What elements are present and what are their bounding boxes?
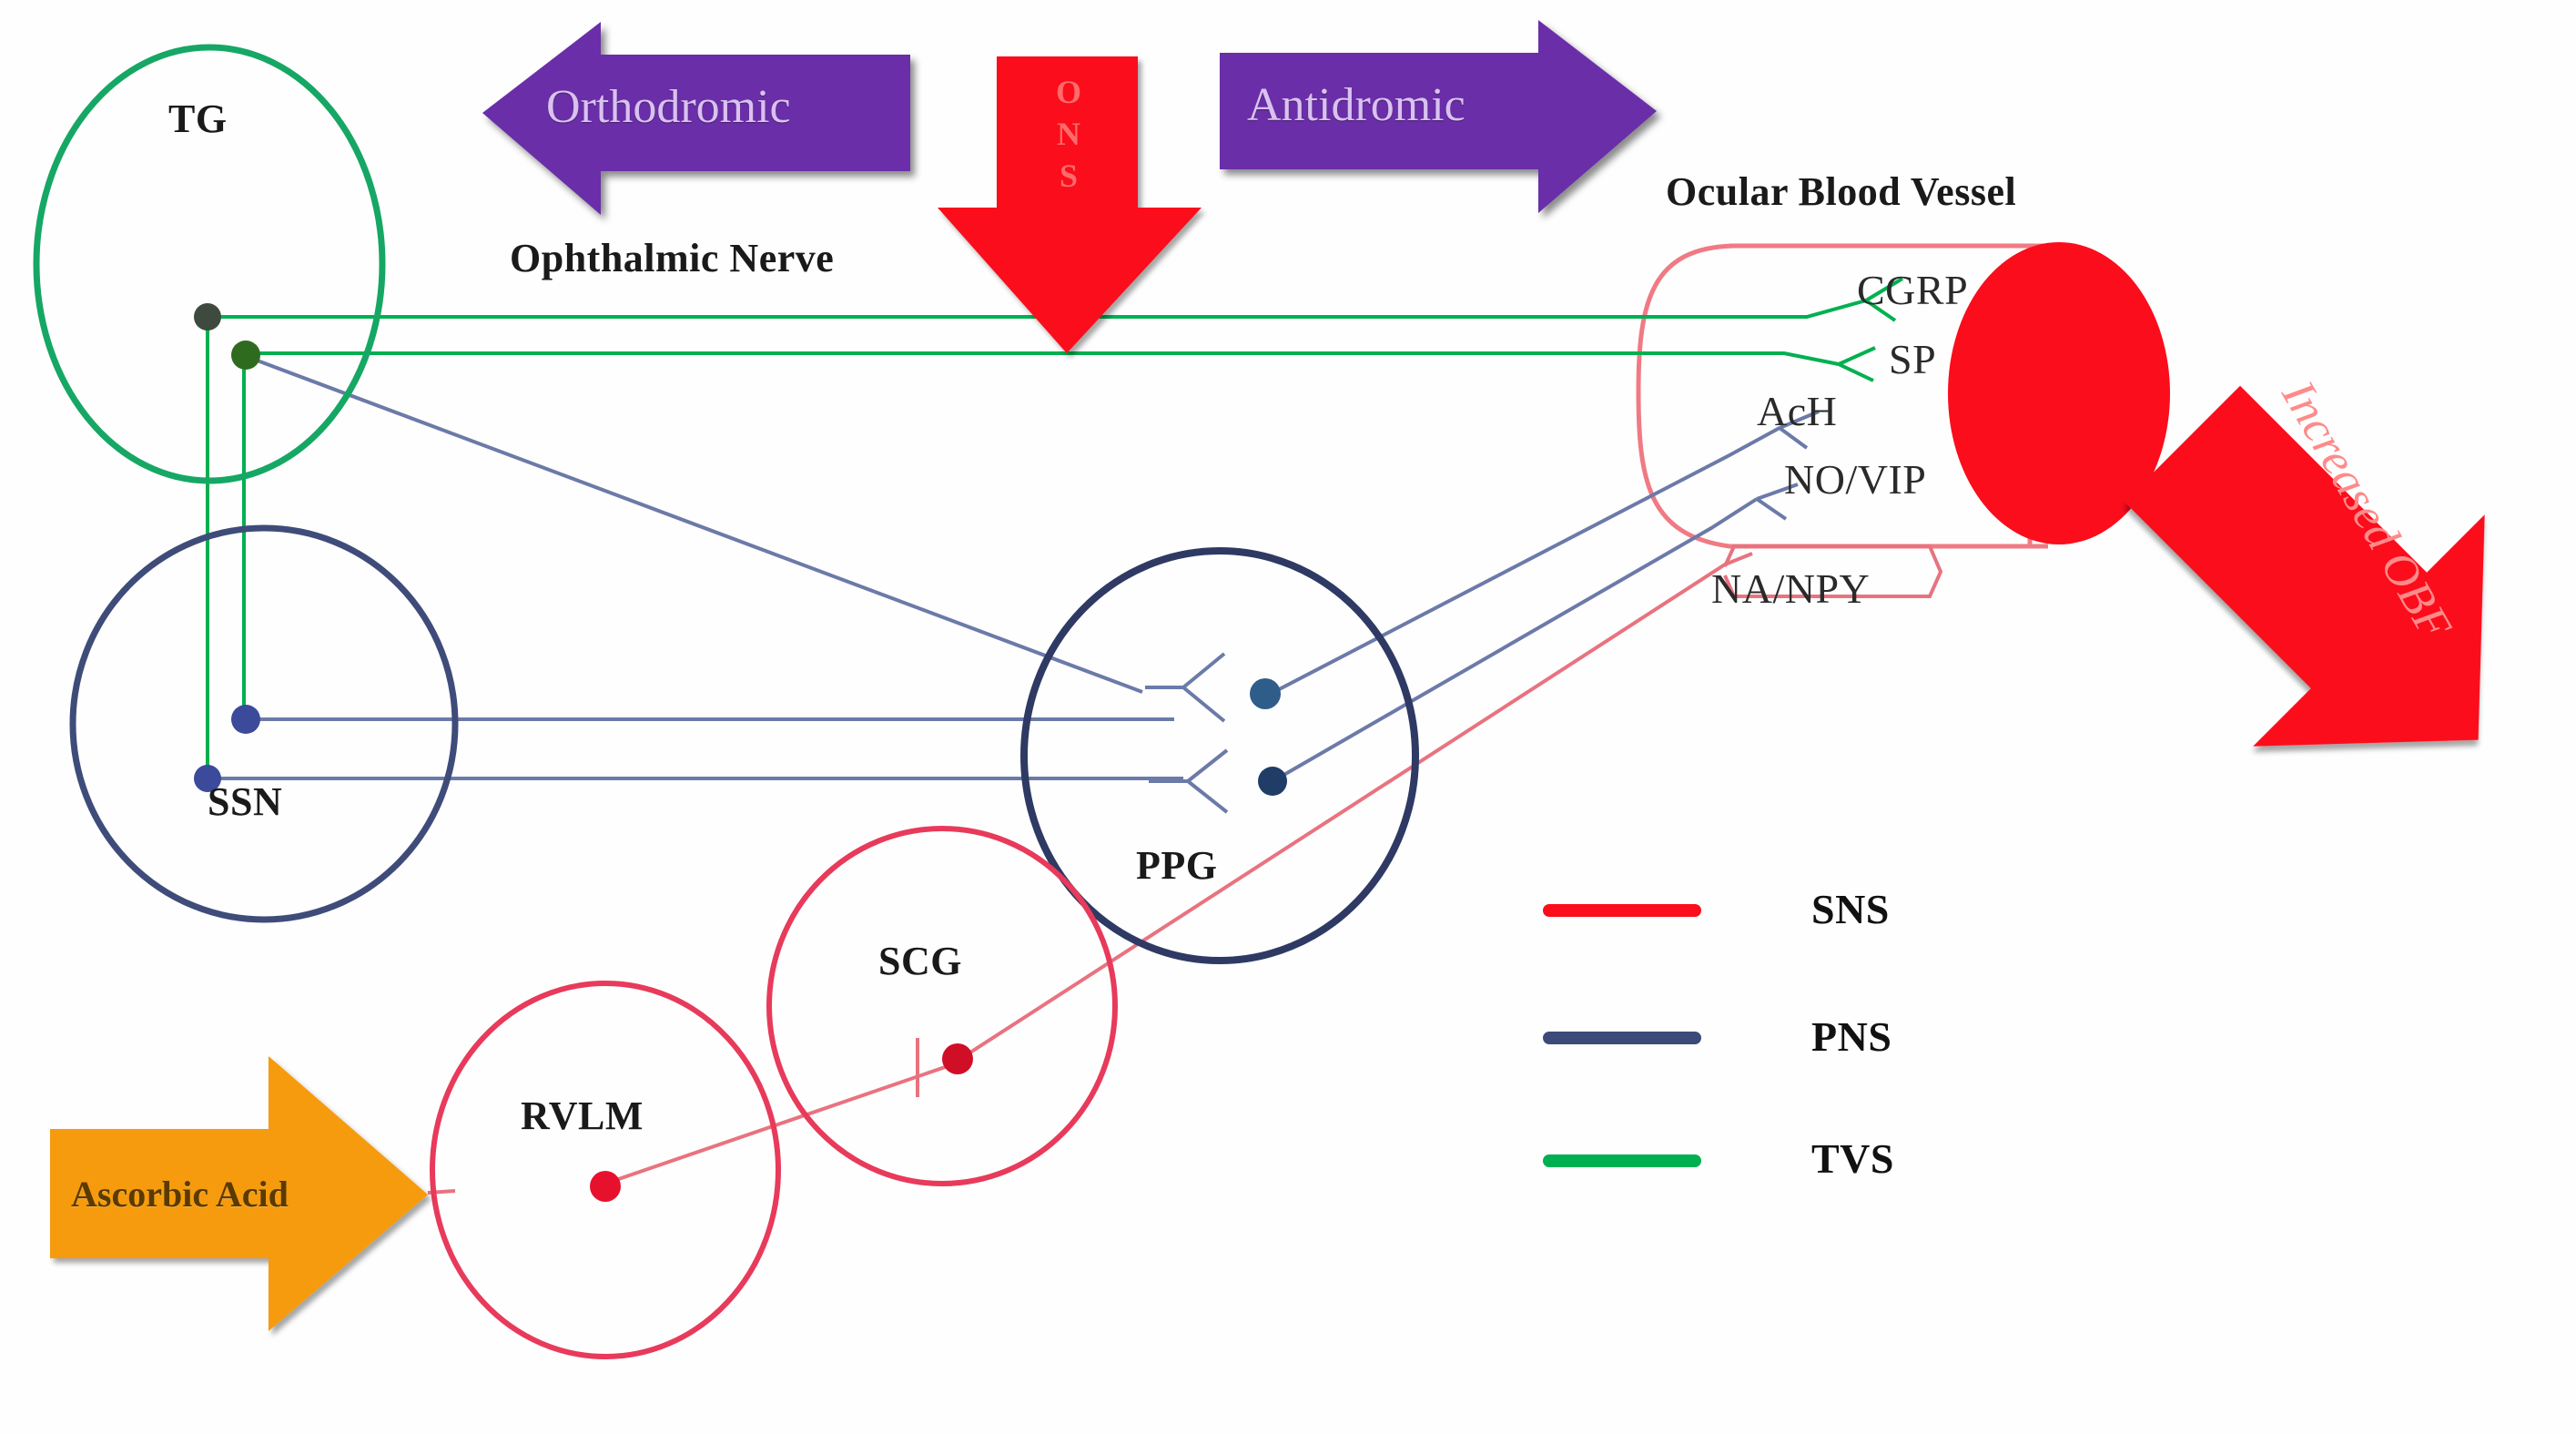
legend-label-pns: PNS <box>1811 1012 1891 1061</box>
orthodromic-arrow <box>482 22 910 215</box>
rvlm-circle <box>432 983 778 1357</box>
legend-label-sns: SNS <box>1811 885 1890 933</box>
rvlm-soma <box>590 1171 621 1202</box>
ganglion-label-tg: TG <box>168 96 228 142</box>
ganglion-label-rvlm: RVLM <box>521 1093 644 1139</box>
neurotransmitter-label-cgrp: CGRP <box>1857 266 1968 314</box>
ganglion-label-ssn: SSN <box>208 778 282 825</box>
ppg-soma-1 <box>1250 678 1281 709</box>
ssn-soma-1 <box>231 705 260 734</box>
neurotransmitter-label-ach: AcH <box>1757 387 1837 435</box>
tg-soma-2 <box>231 341 260 370</box>
ganglion-label-ppg: PPG <box>1136 842 1217 889</box>
tvs-green-pathways <box>208 279 1902 778</box>
ascorbic-acid-arrow <box>50 1056 428 1331</box>
ons-arrow <box>938 56 1202 353</box>
neurotransmitter-label-novip: NO/VIP <box>1784 455 1926 503</box>
ssn-circle <box>73 528 455 920</box>
ophthalmic-nerve-label: Ophthalmic Nerve <box>510 235 834 281</box>
neurotransmitter-label-sp: SP <box>1889 335 1936 383</box>
scg-circle <box>769 829 1115 1184</box>
legend-label-tvs: TVS <box>1811 1134 1894 1183</box>
tg-soma-1 <box>194 303 221 331</box>
diagram-vector-layer <box>0 0 2576 1434</box>
neuron-soma-dots <box>194 303 1287 1202</box>
antidromic-arrow <box>1220 20 1657 213</box>
ganglion-label-scg: SCG <box>878 938 962 984</box>
ppg-soma-2 <box>1258 767 1287 796</box>
pns-blue-pathways <box>208 357 1819 812</box>
neurotransmitter-label-nanpy: NA/NPY <box>1711 564 1870 613</box>
diagram-canvas: TG SSN PPG SCG RVLM Ophthalmic Nerve Ocu… <box>0 0 2576 1434</box>
scg-soma <box>942 1043 973 1074</box>
legend-swatches <box>1549 910 1695 1161</box>
ocular-blood-vessel-label: Ocular Blood Vessel <box>1666 168 2016 215</box>
